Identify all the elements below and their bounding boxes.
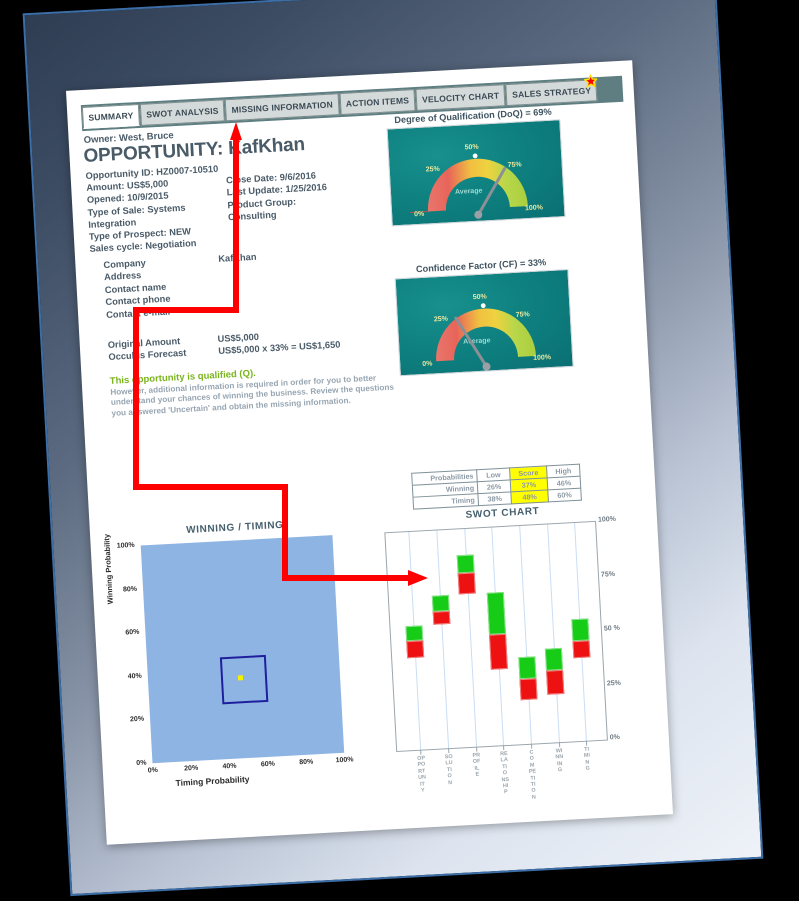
swot-ytick: 0% [610, 734, 620, 742]
swot-axis-tick [559, 742, 560, 747]
probabilities-table: Probabilities Low Score High Winning 26%… [405, 464, 582, 510]
winning-timing-range-box [220, 654, 269, 704]
swot-bar-upper [487, 592, 506, 634]
swot-axis-tick [448, 748, 449, 753]
swot-bar-lower [489, 634, 508, 670]
winning-timing-xtick: 80% [294, 758, 318, 766]
gauge-tick-0: 0% [414, 211, 425, 219]
winning-timing-xtick: 100% [332, 756, 356, 764]
tab-velocity-chart[interactable]: VELOCITY CHART [415, 84, 505, 111]
gauge-tick-25: 25% [434, 316, 449, 324]
tab-action-items[interactable]: ACTION ITEMS [339, 89, 415, 115]
swot-axis-tick [586, 741, 587, 746]
gauge-tick-75: 75% [516, 311, 531, 319]
swot-ytick: 25% [607, 679, 621, 687]
swot-chart: SWOT CHART 0%25%50 %75%100% OPPORTUNITYS… [371, 500, 667, 815]
swot-bar-lower [406, 640, 424, 658]
timing-high: 60% [548, 488, 582, 502]
swot-bar-lower [546, 670, 564, 695]
opportunity-meta: Opportunity ID: HZ0007-10510 Amount: US$… [85, 154, 389, 256]
swot-category-label: SOLUTION [445, 754, 455, 786]
gauge-cf-dial: 0% 25% 50% 75% 100% Average [395, 269, 574, 376]
winning-timing-plot-area [141, 535, 345, 763]
swot-bar-upper [431, 595, 449, 611]
tab-label: SUMMARY [88, 110, 133, 122]
swot-bar-lower [458, 572, 476, 595]
swot-bar-upper [571, 618, 589, 641]
swot-bar-upper [457, 555, 475, 573]
contact-block: CompanyKafKhan Address Contact name Cont… [103, 243, 406, 321]
document-sheet: SUMMARY SWOT ANALYSIS MISSING INFORMATIO… [66, 60, 673, 845]
swot-category-label: COMPETITION [527, 749, 538, 801]
swot-bar [457, 555, 476, 595]
tab-summary[interactable]: SUMMARY [82, 104, 140, 129]
swot-gridline [519, 526, 532, 744]
swot-category-label: PROFILE [472, 752, 481, 778]
gauge-tick-50: 50% [473, 293, 488, 301]
swot-category-label: RELATIONSHIP [500, 751, 510, 796]
swot-bar-lower [572, 640, 590, 658]
winning-timing-chart: WINNING / TIMING Winning Probability Tim… [100, 515, 385, 819]
gauge-tick-100: 100% [525, 204, 544, 212]
gauge-tick-50: 50% [464, 144, 479, 152]
tab-missing-information[interactable]: MISSING INFORMATION [225, 93, 339, 121]
star-icon [584, 74, 598, 88]
winning-timing-ytick: 100% [109, 542, 135, 550]
tab-bar-filler [597, 76, 624, 103]
swot-bar [571, 618, 590, 658]
swot-ytick: 50 % [604, 625, 620, 633]
gauge-doq-dial: 0% 25% 50% 75% 100% Average [387, 119, 566, 226]
tab-label: ACTION ITEMS [346, 95, 410, 108]
tab-label: SALES STRATEGY [512, 85, 592, 99]
swot-ytick: 100% [598, 516, 616, 524]
gauge-tick-75: 75% [507, 161, 522, 169]
gauge-cf: Confidence Factor (CF) = 33% 0% 25% 50% … [394, 256, 574, 376]
winning-timing-ytick: 40% [116, 672, 142, 680]
gauge-tick-100: 100% [533, 354, 552, 362]
swot-axis-tick [421, 750, 422, 755]
screenshot-stage: SUMMARY SWOT ANALYSIS MISSING INFORMATIO… [0, 0, 799, 901]
qualification-note: This opportunity is qualified (Q). Howev… [109, 360, 401, 419]
swot-bar [545, 648, 564, 695]
swot-category-label: WINNING [555, 748, 564, 774]
timing-low: 38% [478, 492, 512, 506]
row-label-timing: Timing [413, 494, 479, 509]
swot-bar [518, 656, 537, 700]
swot-gridline [436, 530, 449, 748]
winning-timing-point [238, 675, 243, 680]
winning-timing-xtick: 0% [141, 767, 165, 775]
swot-ytick: 75% [601, 570, 615, 578]
swot-bar-upper [405, 625, 423, 641]
swot-bar-lower [519, 678, 537, 701]
gauge-tick-25: 25% [426, 166, 441, 174]
winning-timing-xtick: 20% [179, 764, 203, 772]
gauge-doq: Degree of Qualification (DoQ) = 69% [386, 106, 566, 226]
winning-timing-ytick: 80% [111, 585, 137, 593]
timing-score: 48% [511, 490, 549, 504]
winning-timing-xlabel: Timing Probability [175, 774, 249, 788]
swot-gridline [547, 524, 560, 742]
gauge-tick-0: 0% [422, 360, 433, 368]
swot-bar-upper [545, 648, 563, 671]
contact-value: KafKhan [218, 251, 257, 265]
tab-label: MISSING INFORMATION [231, 99, 333, 114]
winning-timing-ytick: 0% [120, 760, 146, 768]
swot-plot-area [384, 521, 608, 752]
swot-bar-upper [518, 656, 536, 679]
tab-swot-analysis[interactable]: SWOT ANALYSIS [140, 99, 225, 126]
swot-axis-tick [476, 747, 477, 752]
swot-axis-tick [531, 744, 532, 749]
winning-timing-ytick: 60% [113, 629, 139, 637]
winning-timing-ytick: 20% [118, 716, 144, 724]
swot-category-label: OPPORTUNITY [417, 755, 427, 794]
tab-label: SWOT ANALYSIS [146, 106, 219, 120]
winning-timing-xtick: 60% [256, 760, 280, 768]
winning-timing-xtick: 40% [217, 762, 241, 770]
tab-label: VELOCITY CHART [422, 90, 500, 104]
swot-bar-lower [432, 611, 450, 625]
swot-category-label: TIMING [582, 746, 591, 772]
swot-bar [405, 625, 424, 659]
amounts-block: Original AmountUS$5,000 Occulus Forecast… [107, 322, 428, 364]
gauge-center-label: Average [455, 188, 483, 196]
swot-bar [431, 595, 450, 624]
swot-axis-tick [503, 745, 504, 750]
swot-bar [487, 592, 508, 669]
